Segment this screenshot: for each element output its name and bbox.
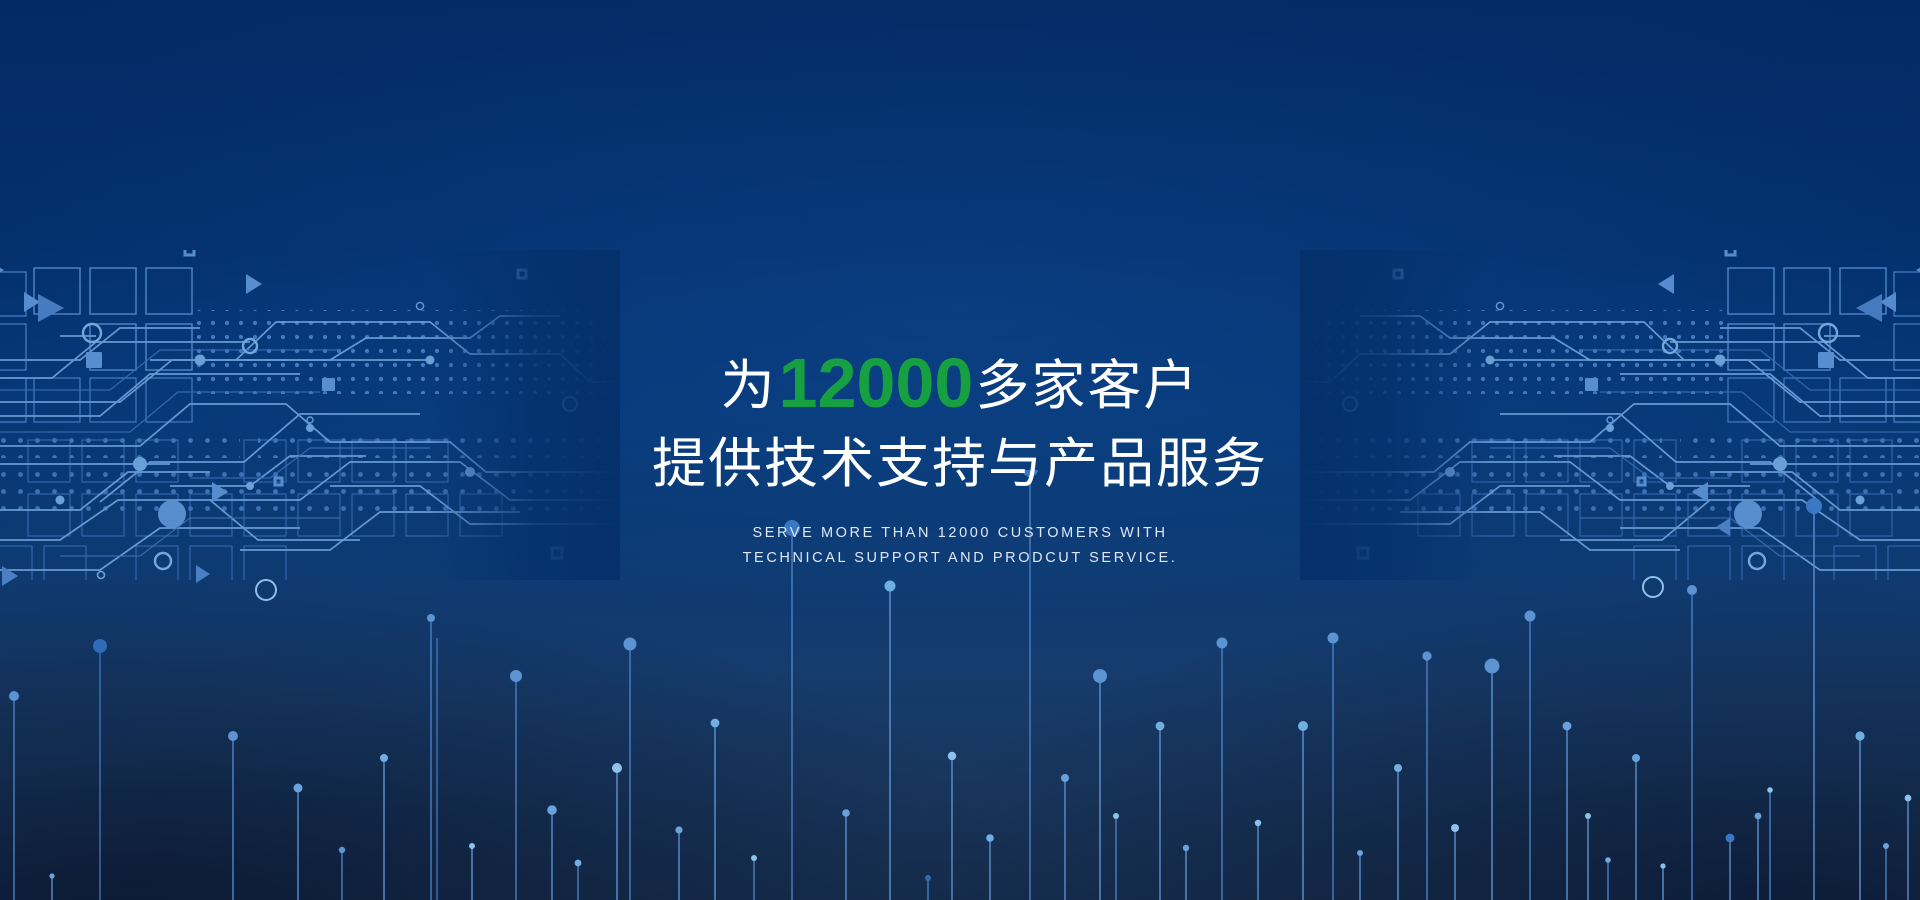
headline-prefix: 为 (721, 356, 777, 416)
hero-text-block: 为12000多家客户 提供技术支持与产品服务 SERVE MORE THAN 1… (0, 338, 1920, 570)
hero-banner: 为12000多家客户 提供技术支持与产品服务 SERVE MORE THAN 1… (0, 0, 1920, 900)
headline-suffix: 多家客户 (975, 356, 1199, 416)
headline-line-2: 提供技术支持与产品服务 (0, 429, 1920, 499)
headline-customer-count: 12000 (777, 344, 976, 422)
subtitle-line-2: TECHNICAL SUPPORT AND PRODCUT SERVICE. (650, 546, 1270, 571)
subtitle: SERVE MORE THAN 12000 CUSTOMERS WITH TEC… (650, 521, 1270, 570)
headline-line-1: 为12000多家客户 (0, 338, 1920, 429)
subtitle-line-1: SERVE MORE THAN 12000 CUSTOMERS WITH (650, 521, 1270, 546)
